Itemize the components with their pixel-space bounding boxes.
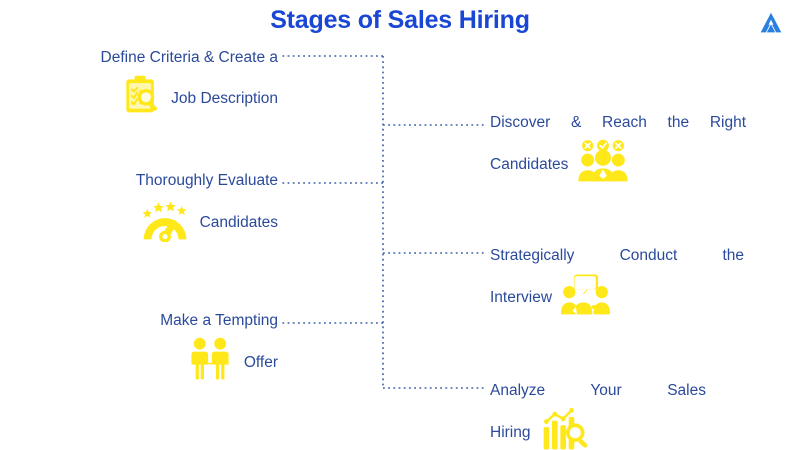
stage-4-line2: Interview bbox=[490, 282, 552, 313]
stage-1-line1: Define Criteria & Create a bbox=[40, 42, 278, 73]
stage-6-line1: Analyze Your Sales bbox=[490, 375, 706, 406]
stage-5-line1: Make a Tempting bbox=[70, 305, 278, 336]
interview-chat-icon bbox=[560, 271, 612, 317]
analytics-search-icon bbox=[539, 406, 591, 450]
stage-4-line1: Strategically Conduct the bbox=[490, 240, 744, 271]
stage-5-line2-row: Offer bbox=[70, 336, 278, 382]
stage-3-line2-row: Candidates bbox=[60, 196, 278, 242]
stage-item-1[interactable]: Define Criteria & Create a bbox=[40, 42, 278, 117]
stage-item-6[interactable]: Analyze Your Sales Hiring bbox=[490, 375, 706, 450]
mountain-logo bbox=[756, 8, 786, 38]
stage-item-4[interactable]: Strategically Conduct the Interview bbox=[490, 240, 744, 317]
stage-2-line1: Discover & Reach the Right bbox=[490, 107, 746, 138]
stage-4-line2-row: Interview bbox=[490, 271, 744, 317]
stage-item-2[interactable]: Discover & Reach the Right Candidates bbox=[490, 107, 746, 184]
page-title: Stages of Sales Hiring bbox=[0, 6, 800, 35]
stage-3-line2: Candidates bbox=[200, 207, 278, 238]
slide-canvas: Stages of Sales Hiring Define bbox=[0, 0, 800, 450]
stage-2-line2-row: Candidates bbox=[490, 138, 746, 184]
stage-1-line2-row: Job Description bbox=[40, 73, 278, 117]
clipboard-search-icon bbox=[119, 73, 163, 117]
stage-item-5[interactable]: Make a Tempting Offer bbox=[70, 305, 278, 382]
rating-gauge-icon bbox=[139, 196, 191, 242]
stage-item-3[interactable]: Thoroughly Evaluate Candidates bbox=[60, 165, 278, 242]
stage-6-line2-row: Hiring bbox=[490, 406, 706, 450]
stage-1-line2: Job Description bbox=[171, 83, 278, 114]
stage-6-line2: Hiring bbox=[490, 417, 530, 448]
group-candidates-icon bbox=[577, 138, 629, 184]
stage-3-line1: Thoroughly Evaluate bbox=[60, 165, 278, 196]
stage-2-line2: Candidates bbox=[490, 149, 568, 180]
handshake-icon bbox=[184, 336, 236, 382]
stage-5-line2: Offer bbox=[244, 347, 278, 378]
